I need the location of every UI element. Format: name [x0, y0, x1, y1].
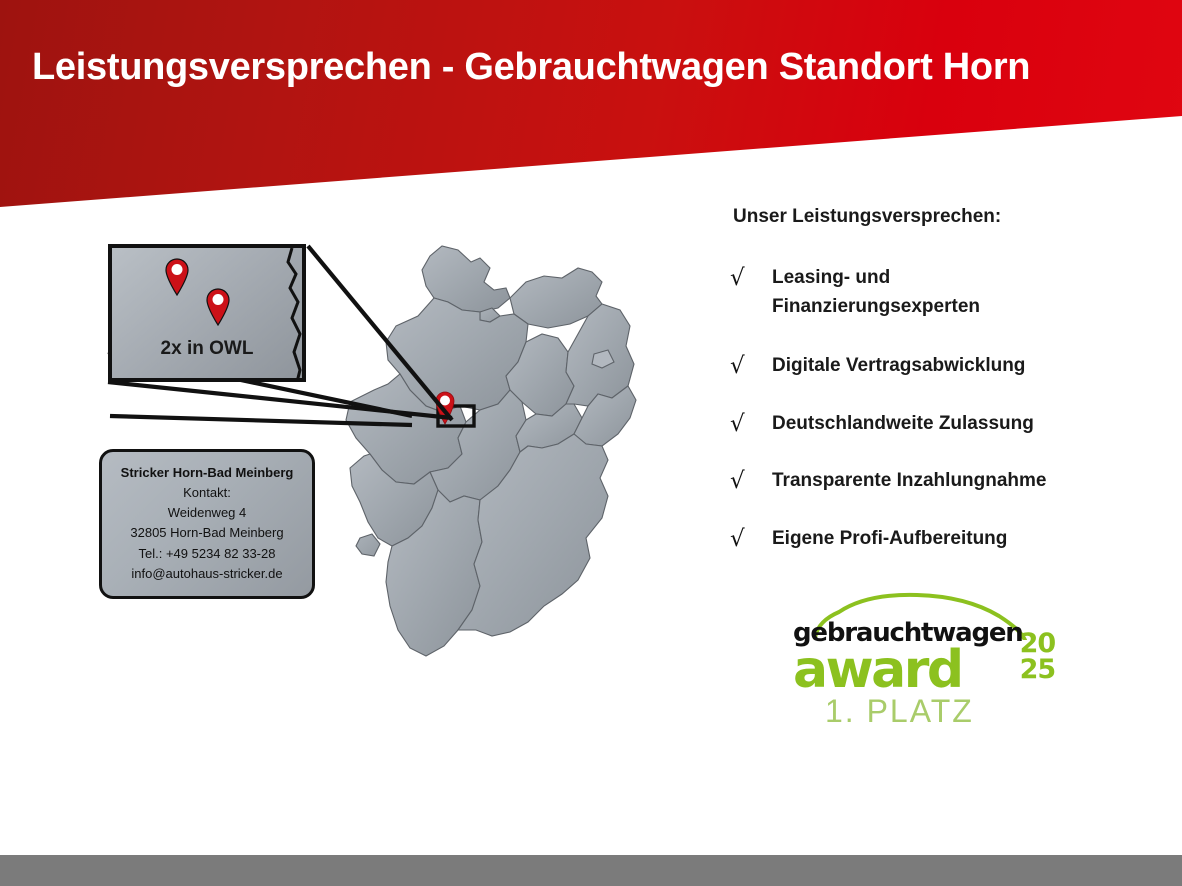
address-email: info@autohaus-stricker.de [102, 564, 312, 584]
promise-label: Digitale Vertragsabwicklung [772, 352, 1025, 381]
promise-list-heading: Unser Leistungsversprechen: [733, 206, 1001, 228]
promise-label: Leasing- und Finanzierungsexperten [772, 264, 980, 321]
footer-bar [0, 855, 1182, 886]
address-card: Stricker Horn-Bad Meinberg Kontakt: Weid… [99, 449, 315, 599]
brand-logo-bar: Horn Nutzfahrzeuge Service SKODA Service [0, 750, 1182, 855]
promise-label: Eigene Profi-Aufbereitung [772, 525, 1007, 554]
promise-item: √ Digitale Vertragsabwicklung [730, 352, 1025, 381]
promise-item: √ Leasing- und Finanzierungsexperten [730, 264, 980, 321]
promise-item: √ Deutschlandweite Zulassung [730, 410, 1034, 439]
checkmark-icon: √ [730, 352, 756, 378]
promise-item: √ Transparente Inzahlungnahme [730, 467, 1047, 496]
inset-border-detail [244, 248, 304, 382]
page-title: Leistungsversprechen - Gebrauchtwagen St… [32, 46, 1172, 89]
promise-item: √ Eigene Profi-Aufbereitung [730, 525, 1007, 554]
header-band [0, 0, 1182, 210]
inset-label: 2x in OWL [112, 338, 302, 360]
promise-label: Deutschlandweite Zulassung [772, 410, 1034, 439]
award-rank: 1. PLATZ [825, 693, 974, 730]
award-year-bottom: 25 [1020, 657, 1056, 683]
address-line: 32805 Horn-Bad Meinberg [102, 523, 312, 543]
checkmark-icon: √ [730, 467, 756, 493]
award-wordmark: gebrauchtwagen award 20 25 [793, 620, 1055, 693]
award-word-award: award [793, 648, 1023, 693]
map-pin-icon [164, 258, 190, 296]
address-company-name: Stricker Horn-Bad Meinberg [102, 463, 312, 483]
checkmark-icon: √ [730, 410, 756, 436]
checkmark-icon: √ [730, 525, 756, 551]
address-line: Kontakt: [102, 483, 312, 503]
checkmark-icon: √ [730, 264, 756, 290]
address-phone: Tel.: +49 5234 82 33-28 [102, 544, 312, 564]
award-year: 20 25 [1020, 631, 1056, 683]
slide-canvas: Leistungsversprechen - Gebrauchtwagen St… [0, 0, 1182, 886]
promise-label: Transparente Inzahlungnahme [772, 467, 1047, 496]
map-inset-box: 2x in OWL [108, 244, 306, 382]
germany-map [330, 238, 680, 698]
address-line: Weidenweg 4 [102, 503, 312, 523]
map-pin-icon [205, 288, 231, 326]
award-words: gebrauchtwagen award [793, 620, 1023, 693]
award-badge: gebrauchtwagen award 20 25 1. PLATZ [793, 592, 1043, 732]
